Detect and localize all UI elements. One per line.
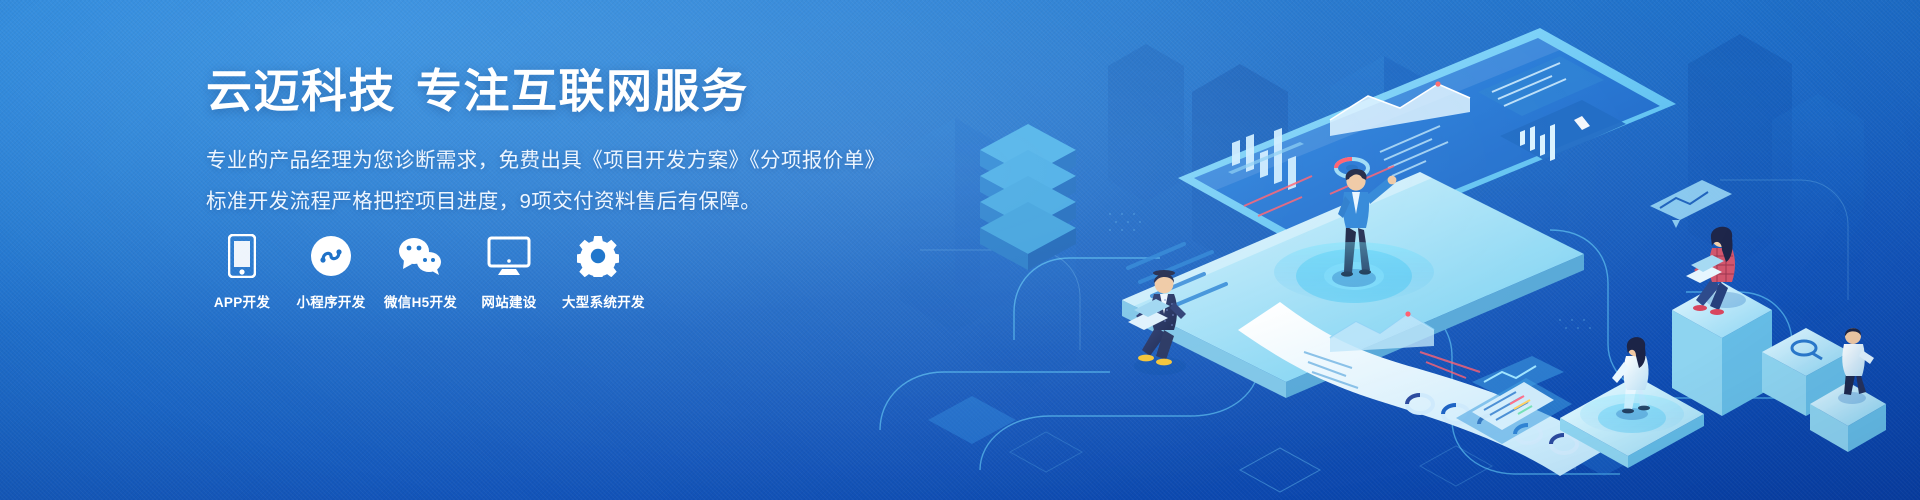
- service-label: 小程序开发: [295, 291, 367, 311]
- service-label: 大型系统开发: [562, 291, 634, 311]
- service-label: 微信H5开发: [384, 291, 456, 311]
- service-item-large-system[interactable]: 大型系统开发: [562, 232, 634, 311]
- subtitle-line-2: 标准开发流程严格把控项目进度，9项交付资料售后有保障。: [206, 185, 946, 218]
- server-stack: [980, 124, 1076, 270]
- isometric-data-analytics-illustration: [860, 0, 1920, 500]
- promo-banner: 云迈科技专注互联网服务 专业的产品经理为您诊断需求，免费出具《项目开发方案》《分…: [0, 0, 1920, 500]
- page-title: 云迈科技专注互联网服务: [206, 66, 946, 118]
- service-list: APP开发 小程序开发: [206, 232, 651, 311]
- mini-program-icon: [295, 232, 367, 280]
- subtitle-block: 专业的产品经理为您诊断需求，免费出具《项目开发方案》《分项报价单》 标准开发流程…: [206, 144, 946, 218]
- service-item-wechat-h5[interactable]: 微信H5开发: [384, 232, 456, 311]
- wechat-icon: [384, 232, 456, 280]
- service-item-website[interactable]: 网站建设: [473, 232, 545, 311]
- floating-diamonds: [1010, 432, 1492, 492]
- service-label: APP开发: [206, 291, 278, 311]
- brand-name: 云迈科技: [206, 65, 396, 117]
- service-item-app[interactable]: APP开发: [206, 232, 278, 311]
- service-item-mini-program[interactable]: 小程序开发: [295, 232, 367, 311]
- subtitle-line-1: 专业的产品经理为您诊断需求，免费出具《项目开发方案》《分项报价单》: [206, 144, 946, 177]
- service-label: 网站建设: [473, 291, 545, 311]
- gear-icon: [562, 232, 634, 280]
- tagline: 专注互联网服务: [416, 65, 749, 117]
- desktop-monitor-icon: [473, 232, 545, 280]
- mobile-phone-icon: [206, 232, 278, 280]
- banner-copy: 云迈科技专注互联网服务 专业的产品经理为您诊断需求，免费出具《项目开发方案》《分…: [206, 66, 946, 226]
